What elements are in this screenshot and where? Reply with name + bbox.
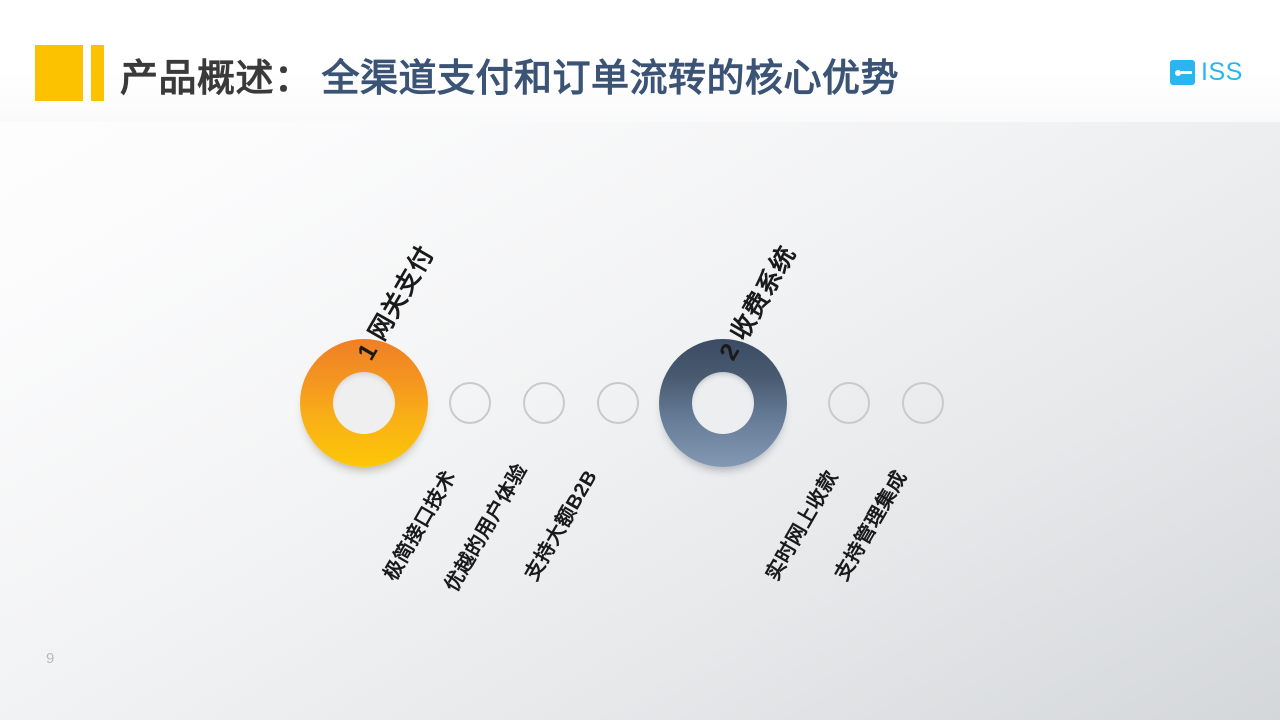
page-number: 9	[46, 650, 54, 667]
group-1-node-2[interactable]	[523, 382, 565, 424]
brand-logo: ISS	[1170, 60, 1243, 85]
accent-bar-small	[91, 45, 104, 101]
group-2-donut[interactable]	[659, 339, 787, 467]
group-2-donut-hole	[692, 372, 754, 434]
iss-mark-icon	[1170, 60, 1195, 85]
group-1-feature-3: 支持大额B2B	[516, 464, 603, 585]
brand-logo-text: ISS	[1201, 60, 1243, 85]
accent-bar-large	[35, 45, 83, 101]
page-title-lead: 产品概述：	[120, 47, 313, 102]
group-2-node-2[interactable]	[902, 382, 944, 424]
title-accent-bars	[35, 45, 104, 101]
accent-bar-gap	[83, 45, 91, 101]
slide-header: 产品概述： 全渠道支付和订单流转的核心优势 ISS	[0, 0, 1280, 122]
group-1-node-3[interactable]	[597, 382, 639, 424]
group-2-node-1[interactable]	[828, 382, 870, 424]
group-2-heading: 2 收费系统	[709, 238, 804, 366]
slide-canvas: 产品概述： 全渠道支付和订单流转的核心优势 ISS 1 网关支付 极简接口技术 …	[0, 0, 1280, 720]
group-1-donut-hole	[333, 372, 395, 434]
page-title-main: 全渠道支付和订单流转的核心优势	[313, 47, 900, 102]
group-1-node-1[interactable]	[449, 382, 491, 424]
page-title: 产品概述： 全渠道支付和订单流转的核心优势	[120, 44, 899, 104]
